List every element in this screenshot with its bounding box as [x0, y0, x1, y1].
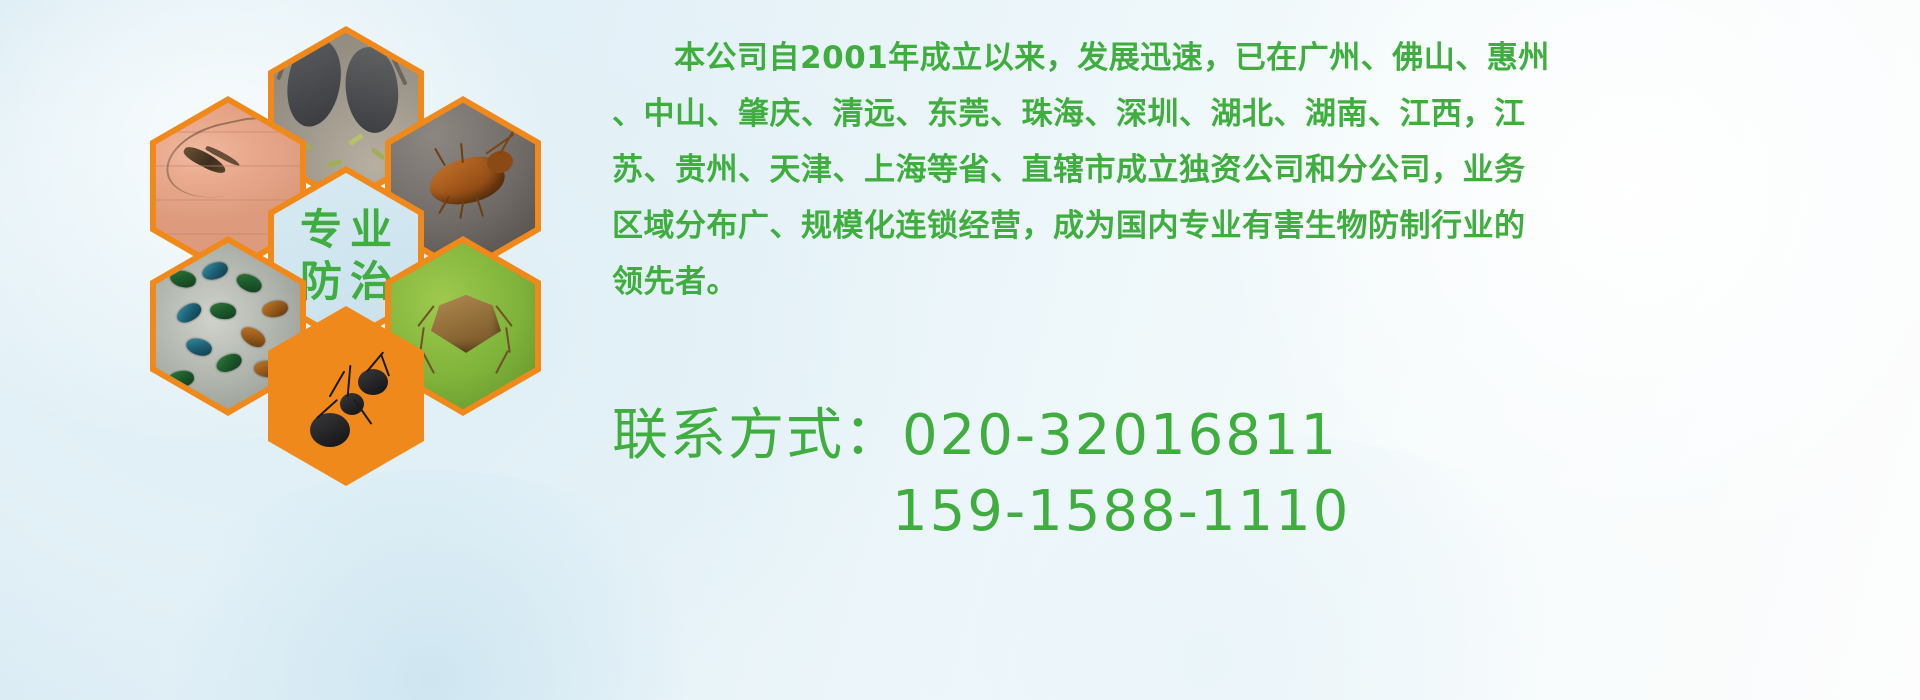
- hex-logo-line-1: 专业: [292, 209, 400, 251]
- contact-secondary-line: 159-1588-1110: [612, 474, 1902, 550]
- contact-phone-primary[interactable]: 020-32016811: [902, 403, 1338, 468]
- description-line-2: 、中山、肇庆、清远、东莞、珠海、深圳、湖北、湖南、江西，江: [612, 86, 1902, 142]
- description-line-4: 区域分布广、规模化连锁经营，成为国内专业有害生物防制行业的: [612, 198, 1902, 254]
- promo-banner: 专业 防治: [0, 0, 1920, 700]
- description-line-1: 本公司自2001年成立以来，发展迅速，已在广州、佛山、惠州: [612, 30, 1902, 86]
- contact-primary-line: 联系方式：020-32016811: [612, 398, 1902, 474]
- description-line-3: 苏、贵州、天津、上海等省、直辖市成立独资公司和分公司，业务: [612, 142, 1902, 198]
- hex-logo-line-2: 防治: [292, 261, 400, 303]
- stink-bug-body: [431, 295, 501, 353]
- company-description-block: 本公司自2001年成立以来，发展迅速，已在广州、佛山、惠州 、中山、肇庆、清远、…: [612, 30, 1902, 310]
- contact-phone-secondary[interactable]: 159-1588-1110: [892, 479, 1350, 544]
- contact-block: 联系方式：020-32016811 159-1588-1110: [612, 398, 1902, 550]
- rat-body-2: [340, 44, 403, 136]
- ant-head: [358, 369, 388, 395]
- contact-label: 联系方式：: [612, 403, 902, 468]
- ant-thorax: [340, 393, 364, 415]
- description-line-5: 领先者。: [612, 254, 1902, 310]
- hexagon-image-cluster: 专业 防治: [90, 8, 590, 568]
- rat-body-1: [282, 36, 346, 130]
